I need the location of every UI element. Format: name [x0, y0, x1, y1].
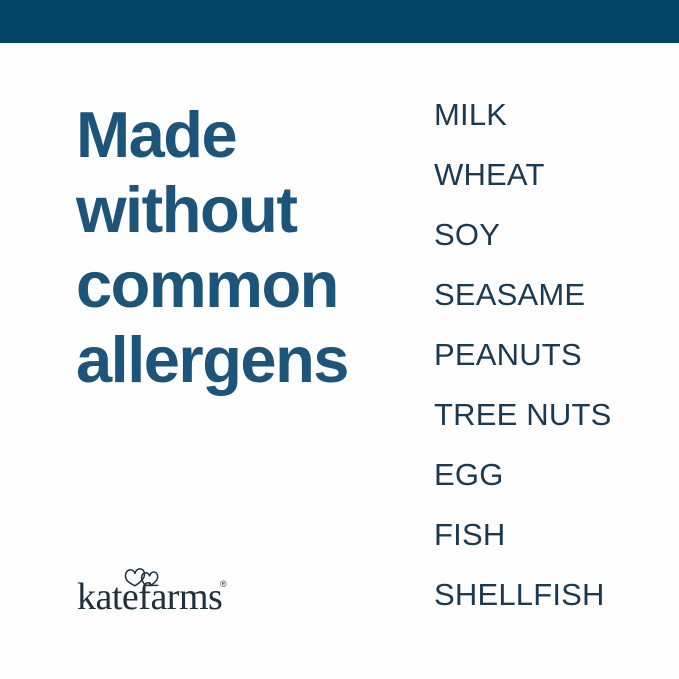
- logo-wordmark: katefarms: [77, 578, 222, 616]
- list-item: TREE NUTS: [434, 398, 664, 458]
- list-item: SOY: [434, 218, 664, 278]
- list-item: SEASAME: [434, 278, 664, 338]
- list-item: MILK: [434, 98, 664, 158]
- list-item: EGG: [434, 458, 664, 518]
- brand-logo: katefarms ®: [77, 566, 277, 612]
- list-item: SHELLFISH: [434, 578, 664, 638]
- registered-trademark-icon: ®: [220, 580, 227, 589]
- page-title: Made without common allergens: [76, 97, 406, 397]
- list-item: PEANUTS: [434, 338, 664, 398]
- top-navy-banner: [0, 0, 679, 43]
- allergen-list: MILK WHEAT SOY SEASAME PEANUTS TREE NUTS…: [434, 98, 664, 638]
- list-item: WHEAT: [434, 158, 664, 218]
- allergen-info-card: Made without common allergens MILK WHEAT…: [0, 0, 679, 679]
- list-item: FISH: [434, 518, 664, 578]
